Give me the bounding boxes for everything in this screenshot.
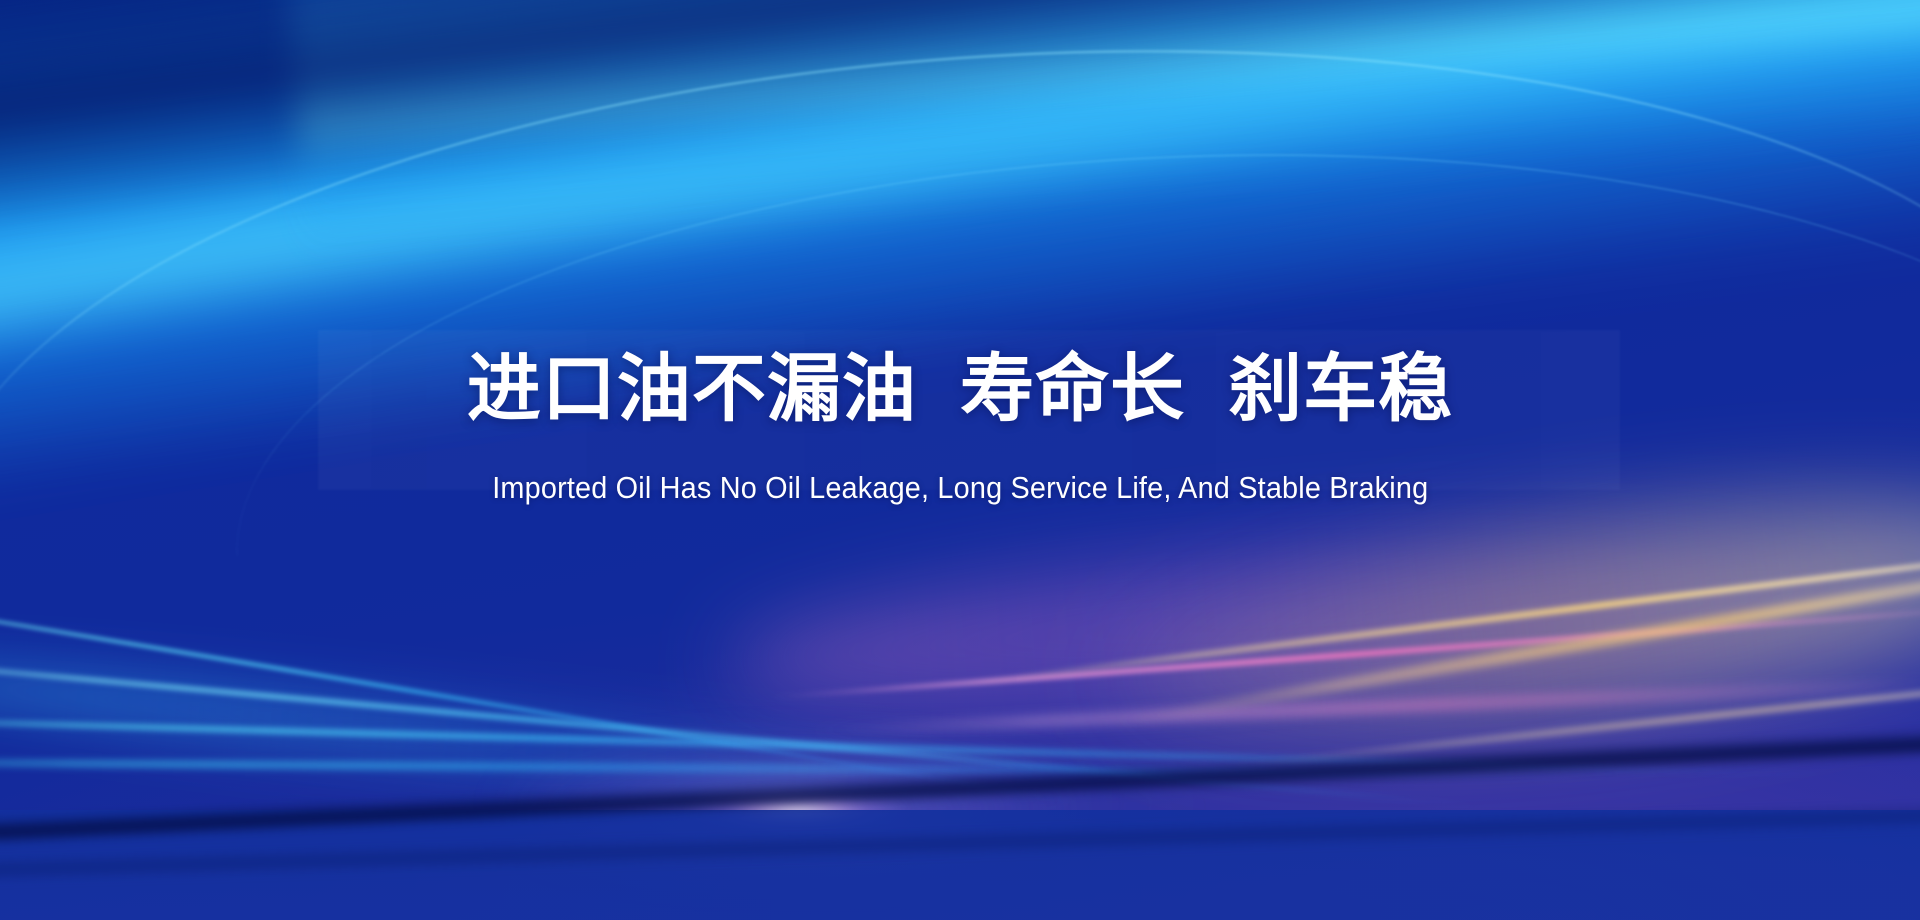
banner-subtitle: Imported Oil Has No Oil Leakage, Long Se… [492, 472, 1428, 503]
promo-banner: 进口油不漏油 寿命长 刹车稳 Imported Oil Has No Oil L… [0, 0, 1920, 920]
banner-headline: 进口油不漏油 寿命长 刹车稳 [467, 352, 1453, 426]
banner-content: 进口油不漏油 寿命长 刹车稳 Imported Oil Has No Oil L… [0, 0, 1920, 920]
